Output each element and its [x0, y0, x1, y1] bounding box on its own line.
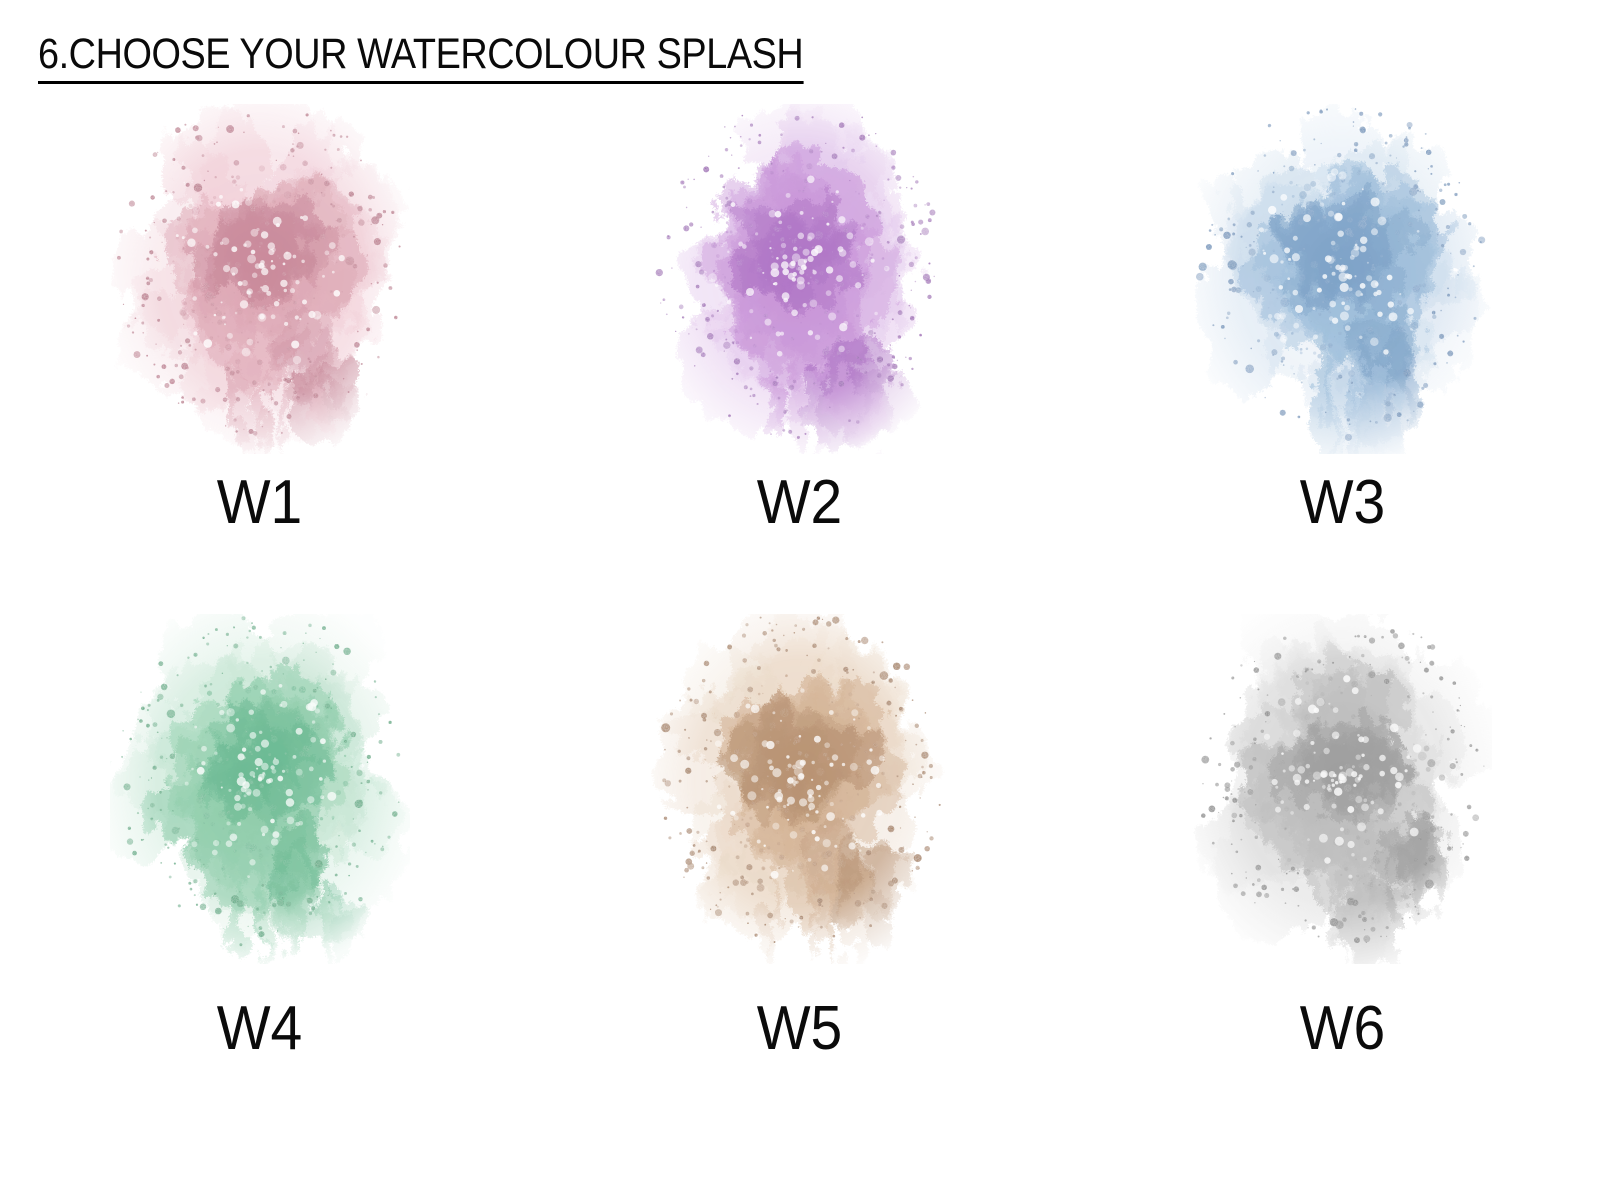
watercolour-splash-w3[interactable] — [1192, 104, 1492, 454]
swatch-label-w4: W4 — [217, 998, 303, 1060]
swatch-label-w6: W6 — [1300, 998, 1386, 1060]
swatch-option-w4[interactable]: W4 — [0, 614, 533, 1124]
watercolour-splash-w1[interactable] — [110, 104, 410, 454]
watercolour-splash-w5[interactable] — [650, 614, 950, 964]
swatch-label-w2: W2 — [757, 472, 843, 534]
swatch-label-w3: W3 — [1300, 472, 1386, 534]
swatch-label-w5: W5 — [757, 998, 843, 1060]
swatch-option-w2[interactable]: W2 — [533, 104, 1066, 614]
swatch-option-w5[interactable]: W5 — [533, 614, 1066, 1124]
swatch-label-w1: W1 — [217, 472, 303, 534]
page-title: 6.CHOOSE YOUR WATERCOLOUR SPLASH — [38, 30, 803, 84]
page-title-text: 6.CHOOSE YOUR WATERCOLOUR SPLASH — [38, 30, 803, 84]
watercolour-swatch-grid: W1 W2 — [0, 104, 1600, 1124]
watercolour-splash-w4[interactable] — [110, 614, 410, 964]
watercolour-splash-w2[interactable] — [650, 104, 950, 454]
swatch-option-w3[interactable]: W3 — [1067, 104, 1600, 614]
watercolour-splash-w6[interactable] — [1192, 614, 1492, 964]
swatch-option-w6[interactable]: W6 — [1067, 614, 1600, 1124]
swatch-option-w1[interactable]: W1 — [0, 104, 533, 614]
